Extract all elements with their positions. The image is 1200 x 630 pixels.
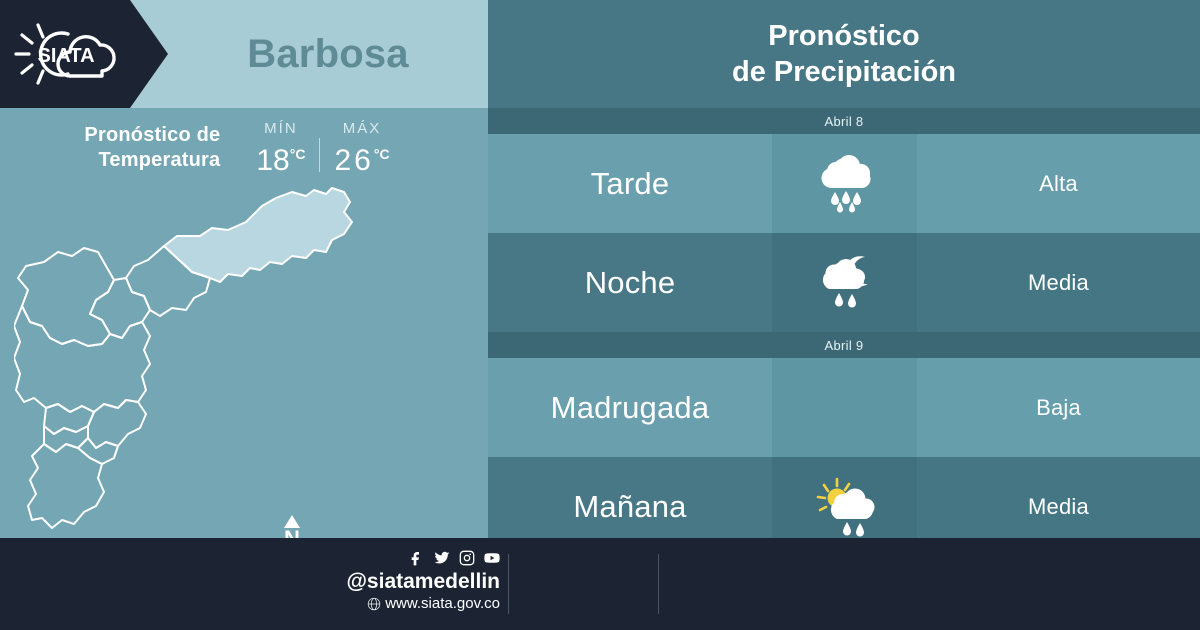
aburra-valley-map[interactable]: N [0, 186, 488, 538]
temperature-max: MÁX 26°C [320, 120, 403, 177]
temperature-max-caption: MÁX [334, 120, 389, 137]
youtube-icon[interactable] [484, 550, 500, 566]
map-region-bello [18, 248, 114, 346]
right-panel: Pronóstico de Precipitación Abril 8 Tard… [488, 0, 1200, 538]
date-band-abril-8: Abril 8 [488, 108, 1200, 134]
website-line[interactable]: www.siata.gov.co [300, 594, 500, 613]
temperature-max-value: 26°C [334, 138, 389, 177]
forecast-title-line2: de Precipitación [732, 54, 956, 90]
temperature-min-value: 18°C [256, 138, 305, 177]
temperature-values: MÍN 18°C MÁX 26°C [242, 120, 403, 177]
footer-divider-2 [658, 554, 659, 614]
footer-divider-1 [508, 554, 509, 614]
map-region-envigado [88, 400, 146, 448]
footer: @siatamedellin www.siata.gov.co Con el a… [0, 538, 1200, 630]
weather-icon-cell [772, 134, 917, 233]
forecast-title: Pronóstico de Precipitación [488, 0, 1200, 108]
social-block: @siatamedellin www.siata.gov.co [300, 550, 500, 613]
moon-icon [812, 378, 878, 438]
sun-cloud-icon: SIATA [10, 18, 122, 90]
weather-icon-cell [772, 358, 917, 457]
left-panel: SIATA Barbosa Pronóstico de Temperatura … [0, 0, 488, 538]
page-title: Barbosa [168, 0, 488, 108]
website-url: www.siata.gov.co [385, 594, 500, 613]
temperature-block: Pronóstico de Temperatura MÍN 18°C MÁX 2… [0, 108, 488, 188]
map-region-caldas [28, 444, 104, 528]
date-band-abril-9: Abril 9 [488, 332, 1200, 358]
temperature-label-line2: Temperatura [84, 148, 220, 173]
moon-rain-cloud-icon [812, 253, 878, 313]
map-region-barbosa [164, 188, 352, 282]
siata-logo-text: SIATA [37, 45, 94, 67]
forecast-title-line1: Pronóstico [768, 18, 919, 54]
precipitation-level: Media [917, 233, 1200, 332]
precipitation-level: Baja [917, 358, 1200, 457]
map-svg [14, 186, 484, 538]
sun-rain-cloud-icon [812, 477, 878, 537]
temperature-min-caption: MÍN [256, 120, 305, 137]
infographic-root: SIATA Barbosa Pronóstico de Temperatura … [0, 0, 1200, 630]
map-region-medellin [14, 306, 150, 412]
period-label: Tarde [488, 134, 772, 233]
table-row[interactable]: Madrugada Baja [488, 358, 1200, 457]
map-region-copacabana [90, 278, 150, 338]
map-region-sabaneta [78, 438, 118, 464]
city-header-band: SIATA Barbosa [0, 0, 488, 108]
twitter-icon[interactable] [434, 550, 450, 566]
siata-logo-banner[interactable]: SIATA [0, 0, 168, 108]
facebook-icon[interactable] [409, 550, 425, 566]
social-icons [300, 550, 500, 566]
table-row[interactable]: Tarde [488, 134, 1200, 233]
forecast-table: Abril 8 Tarde [488, 108, 1200, 556]
instagram-icon[interactable] [459, 550, 475, 566]
temperature-label: Pronóstico de Temperatura [84, 123, 220, 173]
precipitation-level: Alta [917, 134, 1200, 233]
table-row[interactable]: Noche Media [488, 233, 1200, 332]
temperature-divider [319, 138, 320, 172]
weather-icon-cell [772, 233, 917, 332]
temperature-label-line1: Pronóstico de [84, 123, 220, 148]
period-label: Madrugada [488, 358, 772, 457]
period-label: Noche [488, 233, 772, 332]
social-handle[interactable]: @siatamedellin [300, 569, 500, 594]
globe-icon [367, 597, 381, 611]
temperature-min: MÍN 18°C [242, 120, 319, 177]
rain-cloud-icon [812, 154, 878, 214]
